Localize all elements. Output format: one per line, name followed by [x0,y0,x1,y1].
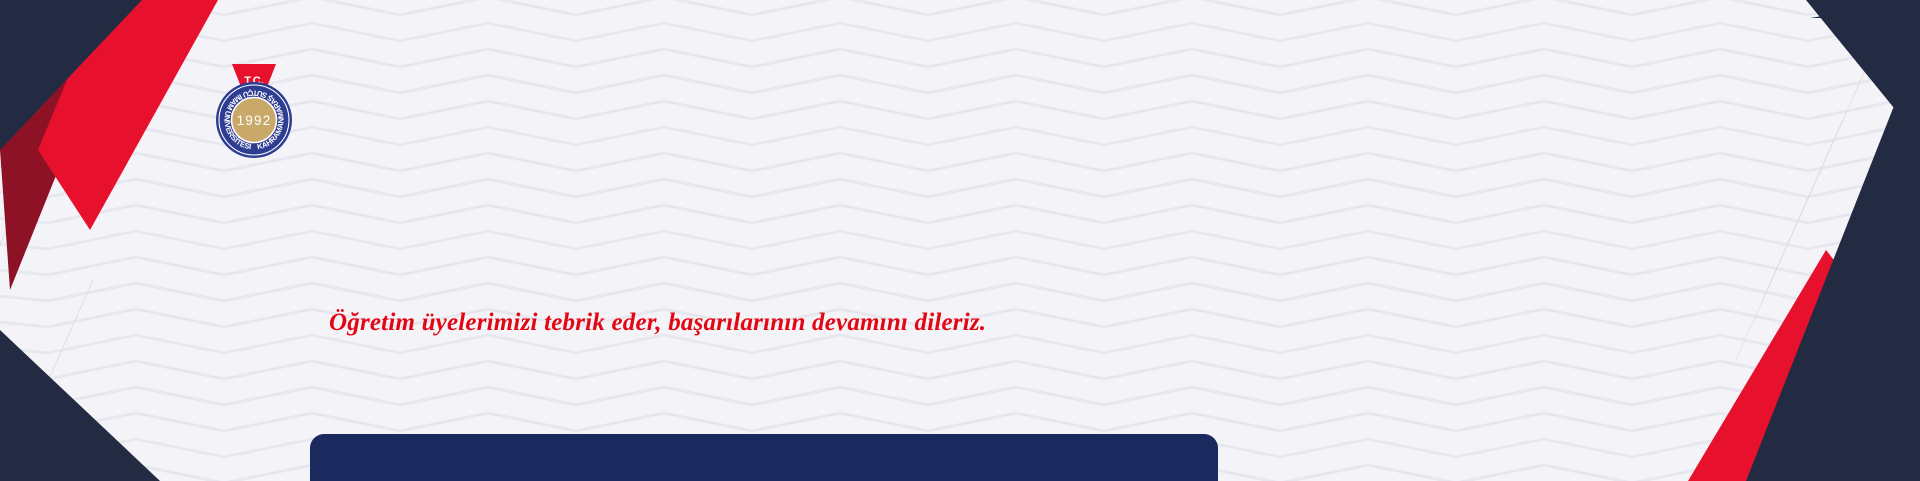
university-logo: T.C. KAHRAMANMARAŞ SÜTÇÜ İMAM ÜNİVERSİTE… [202,48,306,168]
announcement-banner: T.C. KAHRAMANMARAŞ SÜTÇÜ İMAM ÜNİVERSİTE… [0,0,1920,481]
logo-year: 1992 [237,113,272,128]
closing-congratulations-line: Öğretim üyelerimizi tebrik eder, başarıl… [329,306,1319,340]
bottom-navy-bar [310,434,1218,481]
